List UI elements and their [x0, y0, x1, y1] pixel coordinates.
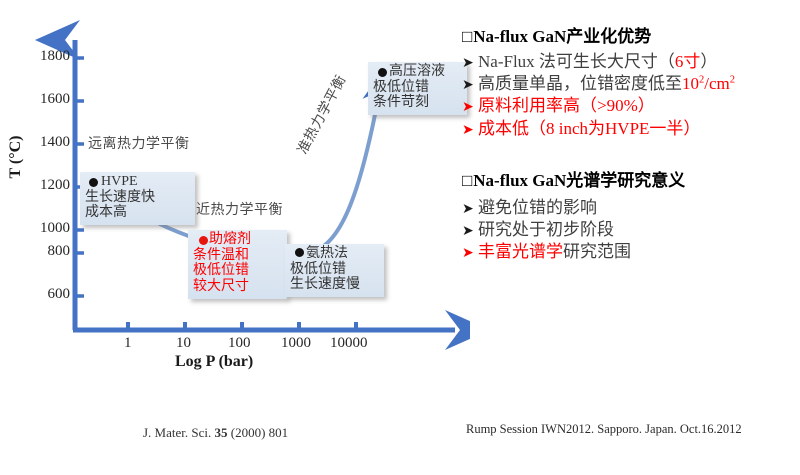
bullet-text-emphasis: 丰富光谱学: [478, 242, 563, 261]
bullet-item: ➤ Na-Flux 法可生长大尺寸（6寸）: [462, 51, 798, 73]
bullet-text: Na-Flux 法可生长大尺寸（6寸）: [478, 51, 717, 73]
bullet-text: 避免位错的影响: [478, 197, 597, 219]
callout-hvpe-line-2: 生长速度快: [85, 190, 189, 206]
section-1-heading-text: Na-flux GaN产业化优势: [473, 27, 651, 46]
y-tick-1000: 1000: [14, 220, 70, 237]
section-1-square-icon: □: [462, 27, 472, 46]
arrow-bullet-icon: ➤: [462, 223, 478, 241]
data-point-ammono: [295, 248, 304, 257]
data-curve: [93, 78, 382, 255]
x-axis-title: Log P (bar): [175, 353, 253, 371]
section-2-bullet-list: ➤ 避免位错的影响 ➤ 研究处于初步阶段 ➤ 丰富光谱学研究范围: [462, 197, 798, 264]
callout-hpsg-line-2: 极低位错: [373, 80, 461, 96]
y-tick-1600: 1600: [14, 91, 70, 108]
y-tick-800: 800: [14, 243, 70, 260]
citation-volume: 35: [215, 425, 228, 440]
section-2-square-icon: □: [462, 171, 472, 190]
bullet-item: ➤ 成本低（8 inch为HVPE一半）: [462, 118, 798, 140]
chart-region: 1800 1600 1400 1200 1000 800 600 T (°C) …: [0, 0, 470, 400]
section-2-heading: □Na-flux GaN光谱学研究意义: [462, 166, 798, 191]
bullet-text-post: ）: [700, 52, 717, 71]
data-point-flux: [199, 236, 208, 245]
callout-flux-line-3: 极低位错: [193, 263, 281, 279]
content-panel: □Na-flux GaN产业化优势 ➤ Na-Flux 法可生长大尺寸（6寸） …: [462, 22, 798, 263]
citation-year-page: (2000) 801: [228, 425, 289, 440]
bullet-item: ➤ 高质量单晶，位错密度低至102/cm2: [462, 73, 798, 95]
bullet-text: 高质量单晶，位错密度低至102/cm2: [478, 73, 735, 95]
callout-hvpe-line-3: 成本高: [85, 205, 189, 221]
bullet-text-emphasis: 6寸: [675, 52, 701, 71]
bullet-text-pre: 高质量单晶，位错密度低至: [478, 74, 682, 93]
callout-ammono-line-3: 生长速度慢: [290, 277, 378, 293]
bullet-text: 丰富光谱学研究范围: [478, 241, 631, 263]
callout-flux-line-4: 较大尺寸: [193, 279, 281, 295]
section-1-heading: □Na-flux GaN产业化优势: [462, 22, 798, 47]
bullet-text: 成本低（8 inch为HVPE一半）: [478, 118, 700, 140]
bullet-text-pre: Na-Flux 法可生长大尺寸（: [478, 52, 675, 71]
callout-hpsg-line-3: 条件苛刻: [373, 95, 461, 111]
section-2-heading-text: Na-flux GaN光谱学研究意义: [473, 171, 685, 190]
bullet-text: 研究处于初步阶段: [478, 219, 614, 241]
bullet-item: ➤ 丰富光谱学研究范围: [462, 241, 798, 263]
y-axis-title: T (°C): [7, 127, 25, 187]
regime-label-near: 近热力学平衡: [196, 199, 283, 219]
x-tick-10: 10: [176, 335, 191, 352]
y-tick-1800: 1800: [14, 48, 70, 65]
section-spacer: [462, 140, 798, 166]
arrow-bullet-icon: ➤: [462, 99, 478, 117]
x-tick-1000: 1000: [281, 335, 311, 352]
x-tick-100: 100: [228, 335, 251, 352]
bullet-item: ➤ 避免位错的影响: [462, 197, 798, 219]
arrow-bullet-icon: ➤: [462, 122, 478, 140]
source-citation: J. Mater. Sci. 35 (2000) 801: [143, 425, 288, 441]
arrow-bullet-icon: ➤: [462, 77, 478, 95]
arrow-bullet-icon: ➤: [462, 201, 478, 219]
data-point-hpsg: [378, 68, 387, 77]
y-tick-600: 600: [14, 286, 70, 303]
x-tick-10000: 10000: [330, 335, 368, 352]
callout-hvpe-line-1: HVPE: [85, 174, 189, 190]
section-1-bullet-list: ➤ Na-Flux 法可生长大尺寸（6寸） ➤ 高质量单晶，位错密度低至102/…: [462, 51, 798, 140]
arrow-bullet-icon: ➤: [462, 55, 478, 73]
data-point-hvpe: [89, 178, 98, 187]
regime-label-far: 远离热力学平衡: [88, 133, 190, 153]
session-footer: Rump Session IWN2012. Sapporo. Japan. Oc…: [466, 422, 742, 437]
bullet-item: ➤ 原料利用率高（>90%）: [462, 95, 798, 117]
x-tick-1: 1: [124, 335, 132, 352]
arrow-bullet-icon: ➤: [462, 245, 478, 263]
callout-flux-line-2: 条件温和: [193, 248, 281, 264]
bullet-item: ➤ 研究处于初步阶段: [462, 219, 798, 241]
callout-ammono-line-2: 极低位错: [290, 262, 378, 278]
bullet-text-post: 研究范围: [563, 242, 631, 261]
citation-journal: J. Mater. Sci.: [143, 425, 215, 440]
slide-canvas: 1800 1600 1400 1200 1000 800 600 T (°C) …: [0, 0, 800, 475]
bullet-text-emphasis: 102/cm2: [682, 74, 735, 93]
bullet-text: 原料利用率高（>90%）: [478, 95, 655, 117]
